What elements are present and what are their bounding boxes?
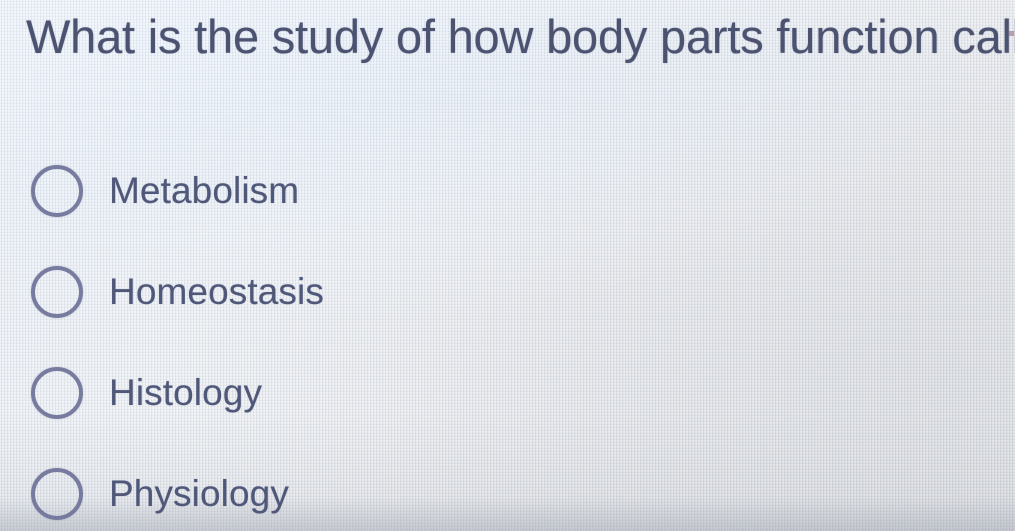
answer-option-metabolism[interactable]: Metabolism xyxy=(0,140,1015,241)
answer-option-label: Metabolism xyxy=(109,169,299,213)
answer-option-label: Homeostasis xyxy=(109,270,324,314)
radio-button-icon[interactable] xyxy=(31,266,83,318)
answer-option-homeostasis[interactable]: Homeostasis xyxy=(0,241,1015,342)
quiz-content: What is the study of how body parts func… xyxy=(0,0,1015,531)
question-text: What is the study of how body parts func… xyxy=(26,8,1015,66)
radio-button-icon[interactable] xyxy=(31,367,83,419)
edge-artifact-pixel xyxy=(1009,31,1014,36)
radio-button-icon[interactable] xyxy=(31,468,83,520)
answer-option-histology[interactable]: Histology xyxy=(0,342,1015,443)
quiz-screen-photo: What is the study of how body parts func… xyxy=(0,0,1015,531)
radio-button-icon[interactable] xyxy=(31,165,83,217)
answer-option-physiology[interactable]: Physiology xyxy=(0,443,1015,531)
answer-option-label: Histology xyxy=(109,371,262,415)
answer-option-label: Physiology xyxy=(109,472,289,516)
answer-options-list: Metabolism Homeostasis Histology Physiol… xyxy=(0,140,1015,531)
